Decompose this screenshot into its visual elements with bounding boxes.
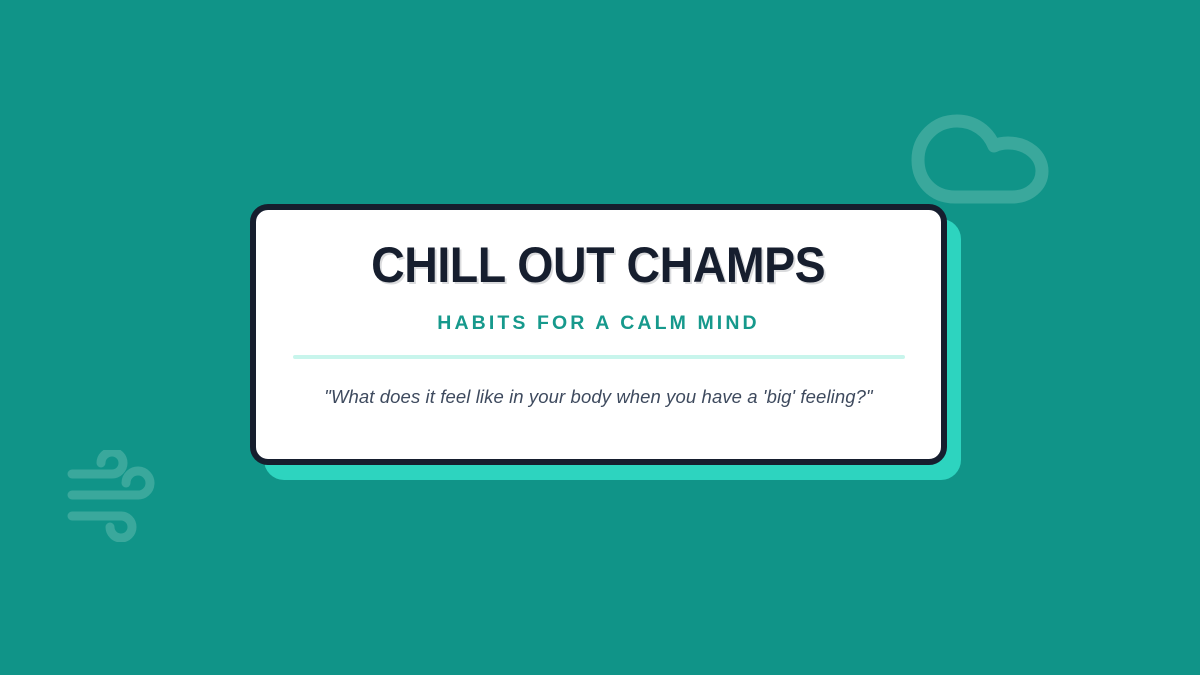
divider — [293, 355, 905, 359]
page-title: CHILL OUT CHAMPS — [371, 240, 825, 290]
title-card: CHILL OUT CHAMPS HABITS FOR A CALM MIND … — [250, 204, 947, 465]
wind-icon — [66, 450, 166, 542]
card-subtitle: HABITS FOR A CALM MIND — [437, 312, 759, 335]
title-card-stack: CHILL OUT CHAMPS HABITS FOR A CALM MIND … — [250, 204, 947, 465]
cloud-icon — [908, 94, 1068, 210]
card-quote: "What does it feel like in your body whe… — [324, 386, 872, 408]
slide-canvas: CHILL OUT CHAMPS HABITS FOR A CALM MIND … — [0, 0, 1200, 675]
